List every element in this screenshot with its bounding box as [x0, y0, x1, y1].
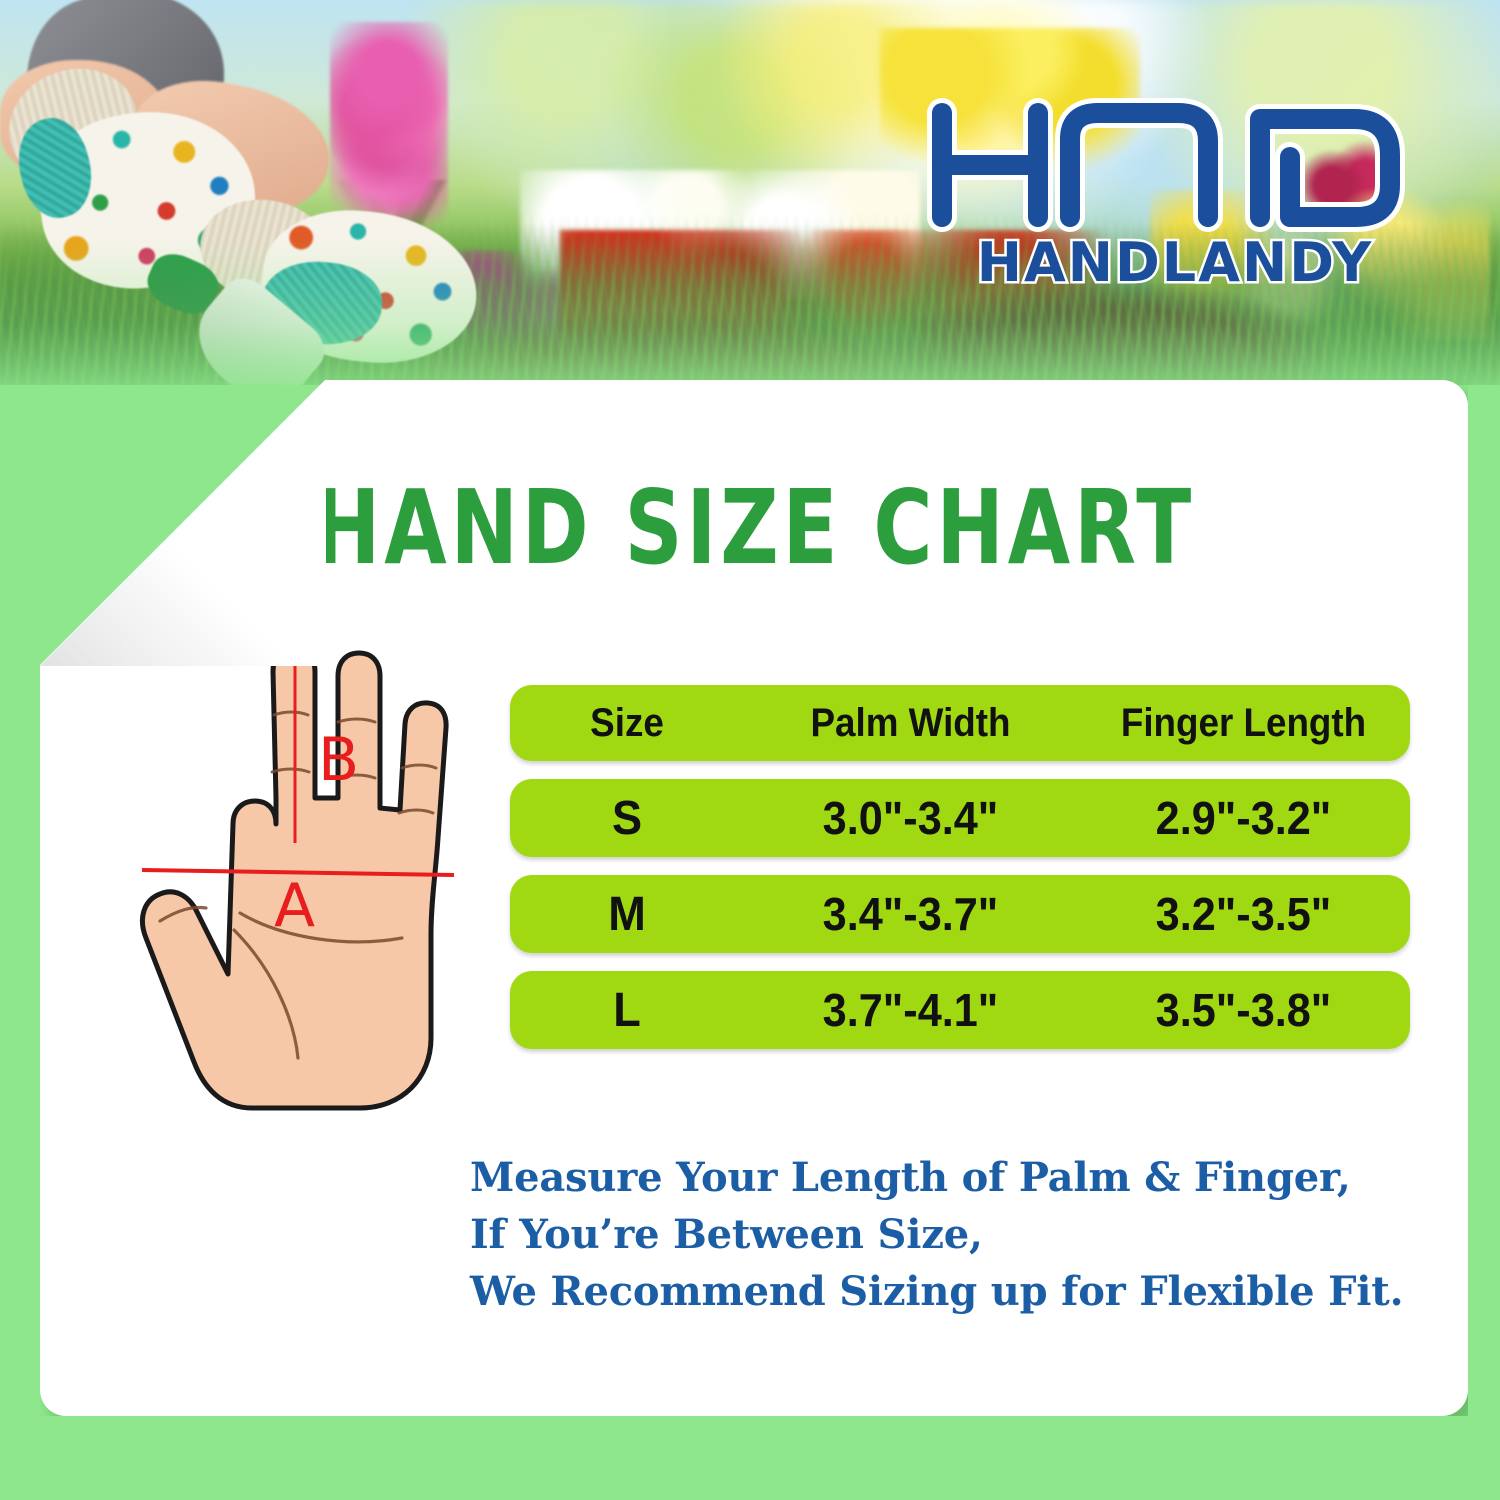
logo-wordmark: HANDLANDY [977, 231, 1373, 290]
size-chart-page: HANDLANDY HAND SIZE CHART [0, 0, 1500, 1500]
measure-label-a: A [274, 871, 315, 941]
cell-palm-width: 3.7"-4.1" [754, 983, 1067, 1037]
fold-triangle [40, 380, 326, 666]
cell-size: L [517, 983, 737, 1038]
size-table: Size Palm Width Finger Length S 3.0"-3.4… [510, 685, 1410, 1067]
note-line-3: We Recommend Sizing up for Flexible Fit. [470, 1264, 1403, 1321]
cell-size: S [517, 791, 737, 846]
table-row: S 3.0"-3.4" 2.9"-3.2" [510, 779, 1410, 857]
note-line-2: If You’re Between Size, [470, 1207, 1403, 1264]
measurement-note: Measure Your Length of Palm & Finger, If… [470, 1150, 1403, 1320]
header-size: Size [519, 701, 734, 746]
hand-measurement-diagram: B A [102, 638, 502, 1138]
table-header-row: Size Palm Width Finger Length [510, 685, 1410, 761]
card-folded-corner [40, 380, 326, 666]
header-finger-length: Finger Length [1090, 701, 1396, 746]
cell-palm-width: 3.0"-3.4" [754, 791, 1067, 845]
cell-finger-length: 2.9"-3.2" [1087, 791, 1400, 845]
cell-finger-length: 3.2"-3.5" [1087, 887, 1400, 941]
table-row: M 3.4"-3.7" 3.2"-3.5" [510, 875, 1410, 953]
table-row: L 3.7"-4.1" 3.5"-3.8" [510, 971, 1410, 1049]
cell-finger-length: 3.5"-3.8" [1087, 983, 1400, 1037]
note-line-1: Measure Your Length of Palm & Finger, [470, 1150, 1403, 1207]
header-palm-width: Palm Width [757, 701, 1063, 746]
handlandy-logo: HANDLANDY [920, 95, 1430, 290]
cell-palm-width: 3.4"-3.7" [754, 887, 1067, 941]
cell-size: M [517, 887, 737, 942]
measure-label-b: B [318, 725, 359, 795]
